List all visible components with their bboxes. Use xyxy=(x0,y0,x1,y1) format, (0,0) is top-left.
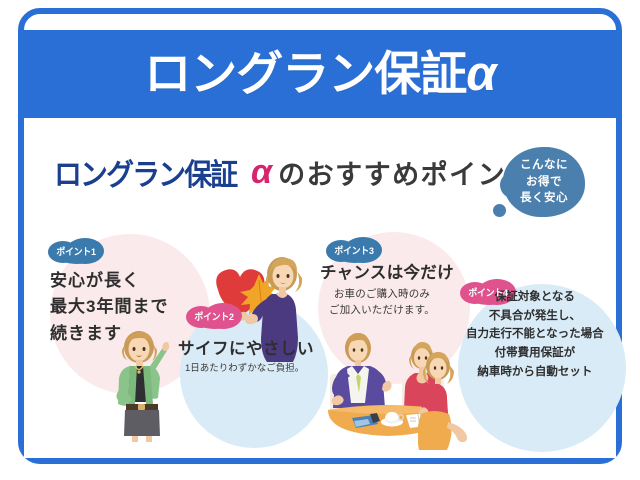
headline: ロングラン保証αのおすすめポイント xyxy=(54,150,524,194)
promo-poster: ロングラン保証α ロングラン保証αのおすすめポイント こんなに お得で 長く安心 xyxy=(0,0,640,480)
headline-suffix: のおすすめポイント xyxy=(278,153,535,192)
point-4-title-line-2: 不具合が発生し、 xyxy=(466,307,604,326)
point-1-badge-label: ポイント1 xyxy=(50,238,103,264)
point-1-title-line-1: 安心が長く xyxy=(50,268,168,294)
point-2-title: サイフにやさしい xyxy=(178,338,314,361)
point-2-subtitle: 1日あたりわずかなご負担。 xyxy=(185,363,304,375)
thought-bubble: こんなに お得で 長く安心 xyxy=(503,147,585,223)
point-4-badge-label: ポイント4 xyxy=(462,279,515,305)
point-3-badge-label: ポイント3 xyxy=(328,237,381,263)
point-4-title-line-4: 付帯費用保証が xyxy=(466,344,604,363)
point-4-title-line-3: 自力走行不能となった場合 xyxy=(466,325,604,344)
point-1-title-line-3: 続きます xyxy=(50,321,168,347)
point-1-title: 安心が長く 最大3年間まで 続きます xyxy=(50,268,168,347)
point-3-subtitle: お車のご購入時のみ ご加入いただけます。 xyxy=(329,286,435,319)
point-4-title-line-5: 納車時から自動セット xyxy=(466,363,604,382)
point-2-subtitle-line-1: 1日あたりわずかなご負担。 xyxy=(185,363,304,375)
poster-title-alpha: α xyxy=(466,47,495,101)
poster-title-band: ロングラン保証α xyxy=(24,30,616,118)
poster-title-main: ロングラン保証 xyxy=(144,47,466,100)
point-3-badge: ポイント3 xyxy=(326,237,382,263)
point-4-badge: ポイント4 xyxy=(460,279,516,305)
headline-brand: ロングラン保証 xyxy=(54,150,236,194)
point-3-subtitle-line-1: お車のご購入時のみ xyxy=(329,286,435,302)
headline-alpha: α xyxy=(251,153,272,192)
thought-bubble-line-1: こんなに xyxy=(520,157,568,174)
thought-bubble-line-2: お得で xyxy=(526,174,562,191)
thought-bubble-text: こんなに お得で 長く安心 xyxy=(503,147,585,217)
point-1-title-line-2: 最大3年間まで xyxy=(50,294,168,320)
poster-title: ロングラン保証α xyxy=(144,50,495,99)
point-2-badge: ポイント2 xyxy=(186,303,242,329)
thought-bubble-line-3: 長く安心 xyxy=(520,190,568,207)
point-2-badge-label: ポイント2 xyxy=(188,303,241,329)
point-1-badge: ポイント1 xyxy=(48,238,104,264)
point-3-subtitle-line-2: ご加入いただけます。 xyxy=(329,302,435,318)
point-3-title: チャンスは今だけ xyxy=(320,262,454,284)
